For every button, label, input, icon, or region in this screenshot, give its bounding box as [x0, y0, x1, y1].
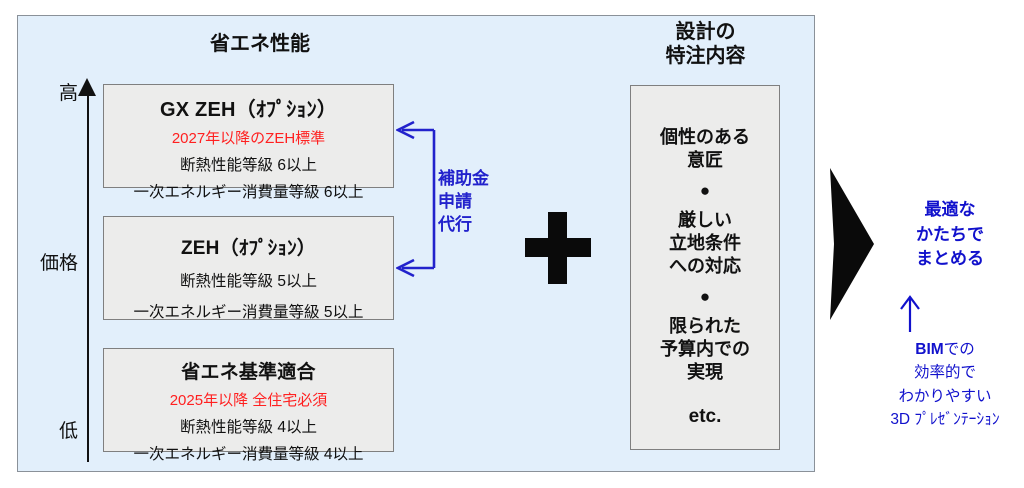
- design-item-identity: 個性のある 意匠: [631, 126, 779, 172]
- axis-label-price: 価格: [22, 248, 78, 275]
- axis-label-low: 低: [30, 416, 78, 443]
- axis-label-high: 高: [30, 78, 78, 105]
- price-axis-line: [87, 92, 89, 462]
- up-arrow-icon: [895, 294, 925, 334]
- subsidy-agency-label: 補助金 申請 代行: [438, 168, 518, 237]
- spec-box-line-primary-energy: 一次エネルギー消費量等級 6以上: [104, 180, 393, 202]
- spec-box-line-insulation: 断熱性能等級 4以上: [104, 415, 393, 437]
- spec-box-line-primary-energy: 一次エネルギー消費量等級 5以上: [104, 300, 393, 322]
- spec-box-line-primary-energy: 一次エネルギー消費量等級 4以上: [104, 442, 393, 464]
- bim-caption-rest: での 効率的で わかりやすい 3D ﾌﾟﾚｾﾞﾝﾃｰｼｮﾝ: [890, 341, 999, 428]
- diagram-canvas: 省エネ性能 設計の 特注内容 高 価格 低 GX ZEH（ｵﾌﾟｼｮﾝ） 202…: [0, 0, 1024, 488]
- spec-box-title: GX ZEH（ｵﾌﾟｼｮﾝ）: [104, 93, 393, 122]
- bim-caption: BIMでの 効率的で わかりやすい 3D ﾌﾟﾚｾﾞﾝﾃｰｼｮﾝ: [866, 338, 1024, 431]
- design-custom-heading: 設計の 特注内容: [628, 21, 783, 68]
- design-item-budget: 限られた 予算内での 実現: [631, 315, 779, 384]
- result-headline: 最適な かたちで まとめる: [880, 198, 1020, 272]
- spec-box-note: 2027年以降のZEH標準: [104, 127, 393, 148]
- design-item-site-conditions: 厳しい 立地条件 への対応: [631, 209, 779, 278]
- right-arrow-icon: [828, 168, 874, 320]
- bullet-dot-icon: ●: [631, 288, 779, 305]
- spec-box-zeh[interactable]: ZEH（ｵﾌﾟｼｮﾝ） 断熱性能等級 5以上 一次エネルギー消費量等級 5以上: [103, 216, 394, 320]
- spec-box-note: 2025年以降 全住宅必須: [104, 389, 393, 410]
- spec-box-energy-standard[interactable]: 省エネ基準適合 2025年以降 全住宅必須 断熱性能等級 4以上 一次エネルギー…: [103, 348, 394, 452]
- spec-box-line-insulation: 断熱性能等級 6以上: [104, 153, 393, 175]
- energy-performance-heading: 省エネ性能: [120, 33, 400, 57]
- design-requirements-box[interactable]: 個性のある 意匠 ● 厳しい 立地条件 への対応 ● 限られた 予算内での 実現…: [630, 85, 780, 450]
- spec-box-title: 省エネ基準適合: [104, 357, 393, 384]
- spec-box-line-insulation: 断熱性能等級 5以上: [104, 269, 393, 291]
- bullet-dot-icon: ●: [631, 182, 779, 199]
- bim-caption-bold: BIM: [915, 341, 943, 358]
- spec-box-gx-zeh[interactable]: GX ZEH（ｵﾌﾟｼｮﾝ） 2027年以降のZEH標準 断熱性能等級 6以上 …: [103, 84, 394, 188]
- design-item-etc: etc.: [631, 406, 779, 428]
- plus-operator-icon: [519, 208, 599, 288]
- spec-box-title: ZEH（ｵﾌﾟｼｮﾝ）: [104, 233, 393, 260]
